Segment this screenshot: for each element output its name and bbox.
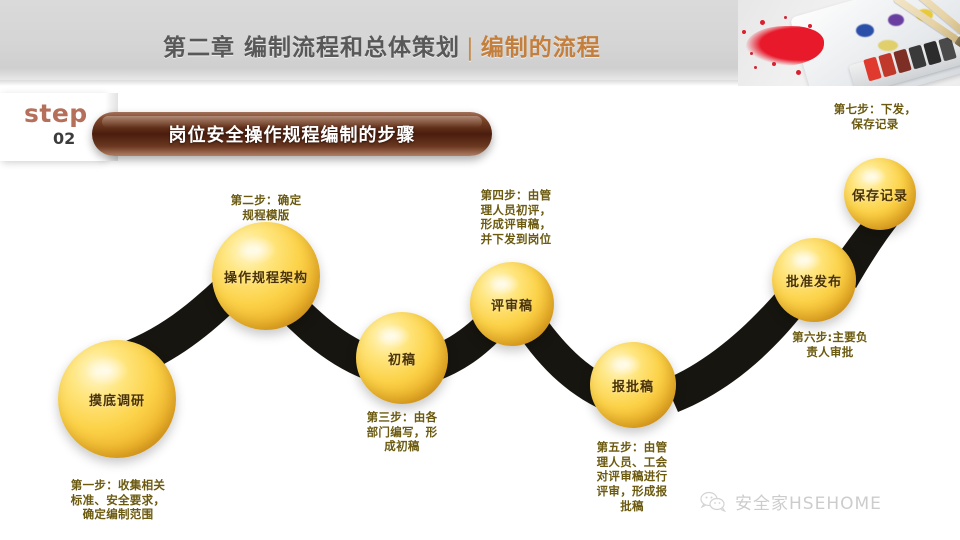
paint-blob — [856, 24, 874, 37]
header-subtitle: 编制的流程 — [481, 35, 601, 61]
flow-node-label: 保存记录 — [844, 158, 916, 230]
slide-canvas: 第二章 编制流程和总体策划|编制的流程 step 02 岗位安全操作规程编制的步… — [0, 0, 960, 540]
flow-node-caption: 第四步：由管 理人员初评， 形成评审稿， 并下发到岗位 — [450, 188, 582, 247]
paint-blob — [888, 14, 904, 26]
flow-node-caption: 第六步:主要负 责人审批 — [766, 330, 894, 359]
flow-node-ball[interactable]: 报批稿 — [590, 342, 676, 428]
paint-dot — [742, 30, 746, 34]
watermark-text: 安全家HSEHOME — [735, 489, 882, 514]
watercolor-palette-image — [738, 0, 960, 86]
flow-node-label: 批准发布 — [772, 238, 856, 322]
flow-node-ball[interactable]: 初稿 — [356, 312, 448, 404]
flow-node-label: 操作规程架构 — [212, 222, 320, 330]
flow-node-label: 报批稿 — [590, 342, 676, 428]
flow-node-caption: 第三步：由各 部门编写，形 成初稿 — [332, 410, 472, 454]
flow-node-ball[interactable]: 批准发布 — [772, 238, 856, 322]
flow-node-ball[interactable]: 评审稿 — [470, 262, 554, 346]
header-separator: | — [466, 35, 475, 61]
paint-dot — [784, 16, 787, 19]
flow-node-label: 初稿 — [356, 312, 448, 404]
flow-node-label: 评审稿 — [470, 262, 554, 346]
flow-node-caption: 第七步：下发， 保存记录 — [800, 102, 950, 131]
paint-dot — [754, 66, 757, 69]
flow-node-ball[interactable]: 摸底调研 — [58, 340, 176, 458]
process-flow-chain: 摸底调研 第一步：收集相关 标准、安全要求， 确定编制范围 操作规程架构 第二步… — [0, 80, 960, 540]
flow-node-ball[interactable]: 保存记录 — [844, 158, 916, 230]
flow-node-ball[interactable]: 操作规程架构 — [212, 222, 320, 330]
paint-blob — [878, 40, 898, 51]
wechat-icon — [700, 491, 726, 513]
paint-dot — [772, 62, 776, 66]
paint-dot — [796, 70, 801, 75]
header-chapter: 第二章 编制流程和总体策划 — [163, 35, 460, 61]
page-title: 第二章 编制流程和总体策划|编制的流程 — [163, 28, 601, 62]
flow-node-caption: 第二步：确定 规程模版 — [190, 193, 342, 222]
flow-node-caption: 第五步：由管 理人员、工会 对评审稿进行 评审，形成报 批稿 — [568, 440, 696, 514]
flow-node-label: 摸底调研 — [58, 340, 176, 458]
paint-dot — [750, 52, 753, 55]
watermark: 安全家HSEHOME — [700, 489, 882, 514]
paint-dot — [760, 20, 765, 25]
flow-node-caption: 第一步：收集相关 标准、安全要求， 确定编制范围 — [28, 478, 208, 522]
paint-dot — [808, 24, 812, 28]
